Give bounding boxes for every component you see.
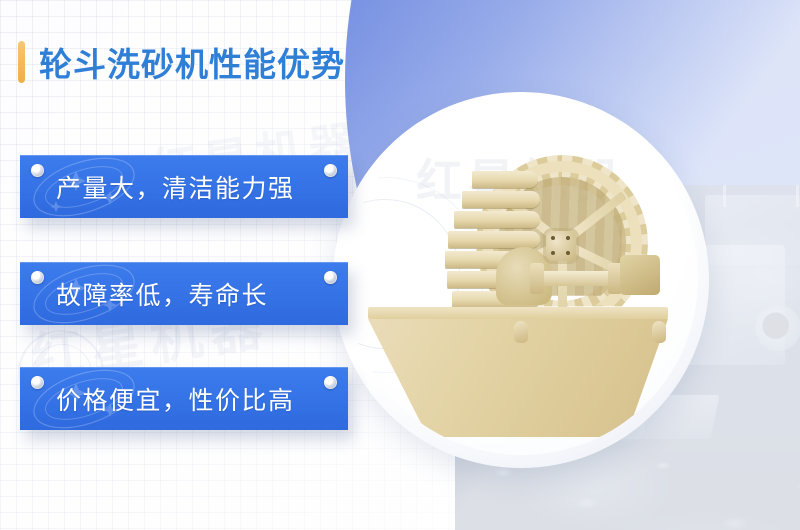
bucket-vane	[462, 191, 540, 208]
screw-rivet-left	[31, 164, 44, 177]
page-title: 轮斗洗砂机性能优势	[39, 38, 345, 86]
hub-bolt	[551, 236, 555, 240]
feature-label-2: 故障率低，寿命长	[56, 262, 268, 325]
tank-lifting-lug	[652, 321, 666, 343]
gearbox-housing	[620, 255, 660, 295]
wheel-hub	[546, 231, 576, 261]
page-title-row: 轮斗洗砂机性能优势	[18, 38, 345, 86]
shaft-flange	[530, 263, 544, 294]
promo-banner: 红星机器 红星机器	[0, 0, 800, 530]
feature-plaque-2[interactable]: 故障率低，寿命长	[20, 262, 348, 325]
product-stage: 红星机器 红星机器	[346, 103, 698, 455]
bucket-vane	[454, 211, 540, 228]
tank-lifting-lug	[514, 321, 528, 343]
bucket-vane	[472, 171, 538, 188]
screw-rivet-right	[324, 271, 337, 284]
bucket-vane	[448, 231, 540, 248]
feature-label-1: 产量大，清洁能力强	[56, 155, 295, 218]
hub-bolt	[566, 251, 570, 255]
title-accent-bar	[18, 41, 25, 83]
feature-plaque-1[interactable]: 产量大，清洁能力强	[20, 155, 348, 218]
screw-rivet-left	[31, 271, 44, 284]
screw-rivet-right	[324, 376, 337, 389]
screw-rivet-left	[31, 376, 44, 389]
feature-plaque-3[interactable]: 价格便宜，性价比高	[20, 367, 348, 430]
hub-bolt	[551, 251, 555, 255]
hub-bolt	[566, 236, 570, 240]
product-illustration-sand-washer	[376, 143, 676, 443]
feature-label-3: 价格便宜，性价比高	[56, 367, 295, 430]
tank-rim	[368, 307, 668, 319]
screw-rivet-right	[324, 164, 337, 177]
